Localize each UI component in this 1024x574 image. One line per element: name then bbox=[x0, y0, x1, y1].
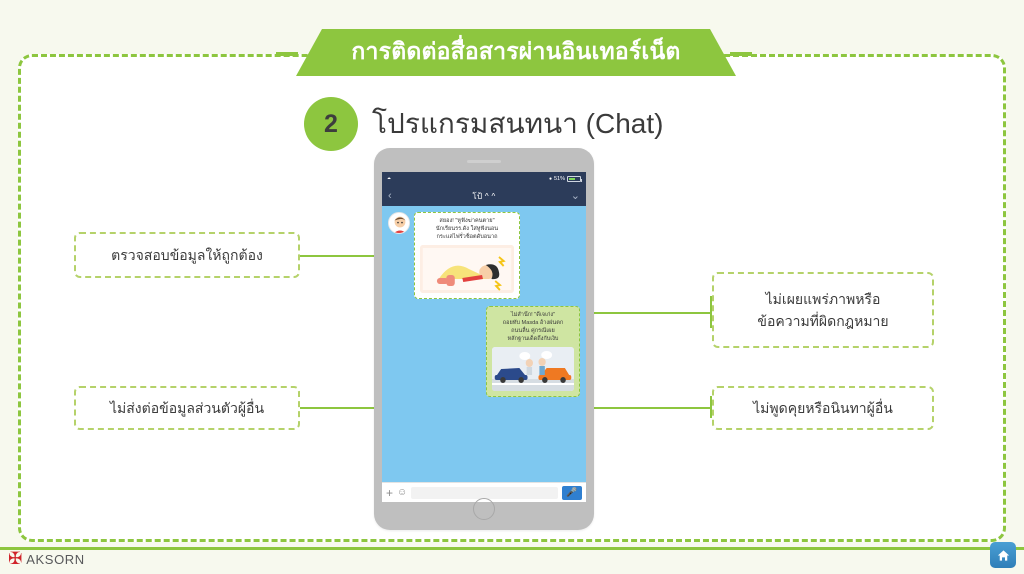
phone-home-button[interactable] bbox=[473, 498, 495, 520]
wifi-icon: ◓ bbox=[387, 176, 391, 183]
chat-header: ‹ โป้ ^ ^ ⌄ bbox=[382, 186, 586, 206]
phone-mockup: ◓ ● 51% ‹ โป้ ^ ^ ⌄ bbox=[374, 148, 594, 530]
header-banner: การติดต่อสื่อสารผ่านอินเทอร์เน็ต bbox=[296, 29, 736, 76]
connector-right-bottom bbox=[592, 407, 712, 409]
callout-no-gossip-text: ไม่พูดคุยหรือนินทาผู้อื่น bbox=[753, 397, 893, 419]
message-line: หลักฐานเด็ดถึงกับเงิบ bbox=[492, 335, 574, 343]
message-image-headphones[interactable] bbox=[420, 245, 514, 293]
plus-icon[interactable]: + bbox=[386, 487, 393, 499]
page-subtitle: โปรแกรมสนทนา (Chat) bbox=[372, 104, 663, 144]
message-line: ถนนลื่น คู่กรณีเผย bbox=[492, 327, 574, 335]
battery-icon bbox=[567, 176, 581, 182]
callout-no-illegal-content-line1: ไม่เผยแพร่ภาพหรือ bbox=[766, 288, 881, 310]
banner-title: การติดต่อสื่อสารผ่านอินเทอร์เน็ต bbox=[351, 40, 680, 65]
message-bubble-incoming[interactable]: สยอง! "หูฟังฆ่าคนตาย" นักเรียนรร.ดัง ใส่… bbox=[414, 212, 520, 299]
banner-stub-right bbox=[730, 52, 752, 56]
aksorn-mark-icon: ✠ bbox=[8, 551, 22, 568]
message-line: สยอง! "หูฟังฆ่าคนตาย" bbox=[420, 217, 514, 225]
chat-body[interactable]: สยอง! "หูฟังฆ่าคนตาย" นักเรียนรร.ดัง ใส่… bbox=[382, 206, 586, 468]
callout-no-illegal-content-line2: ข้อความที่ผิดกฎหมาย bbox=[757, 310, 888, 332]
banner-stub-left bbox=[276, 52, 298, 56]
home-button[interactable] bbox=[990, 542, 1016, 568]
slide-root: การติดต่อสื่อสารผ่านอินเทอร์เน็ต 2 โปรแก… bbox=[0, 0, 1024, 574]
battery-percent: 51% bbox=[554, 176, 565, 182]
microphone-icon[interactable]: 🎤 bbox=[562, 486, 582, 500]
connector-right-top bbox=[590, 312, 712, 314]
callout-verify-information: ตรวจสอบข้อมูลให้ถูกต้อง bbox=[74, 232, 300, 278]
status-bar: ◓ ● 51% bbox=[382, 172, 586, 186]
message-bubble-outgoing[interactable]: ไม่สำนึก! "ดีเจเก่ง" ถอยทับ Masda อ้างฝน… bbox=[486, 306, 580, 397]
brand-logo: ✠ AKSORN bbox=[8, 551, 85, 568]
message-line: กระแสไฟรั่วช็อตดับอนาถ bbox=[420, 233, 514, 241]
phone-speaker bbox=[467, 160, 501, 163]
message-line: นักเรียนรร.ดัง ใส่หูฟังนอน bbox=[420, 225, 514, 233]
callout-no-sharing-personal-data: ไม่ส่งต่อข้อมูลส่วนตัวผู้อื่น bbox=[74, 386, 300, 430]
callout-verify-information-text: ตรวจสอบข้อมูลให้ถูกต้อง bbox=[111, 244, 263, 266]
section-number: 2 bbox=[324, 110, 338, 139]
footer-divider bbox=[0, 547, 1024, 550]
brand-name: AKSORN bbox=[26, 552, 85, 567]
callout-no-gossip: ไม่พูดคุยหรือนินทาผู้อื่น bbox=[712, 386, 934, 430]
smiley-icon[interactable]: ☺ bbox=[397, 488, 407, 498]
bluetooth-icon: ● bbox=[549, 176, 552, 182]
avatar[interactable] bbox=[388, 212, 410, 234]
chat-text-input[interactable] bbox=[411, 487, 558, 499]
callout-no-illegal-content: ไม่เผยแพร่ภาพหรือ ข้อความที่ผิดกฎหมาย bbox=[712, 272, 934, 348]
message-line: ถอยทับ Masda อ้างฝนตก bbox=[492, 319, 574, 327]
message-image-car-collision[interactable] bbox=[492, 347, 574, 391]
home-icon bbox=[996, 548, 1011, 563]
phone-screen: ◓ ● 51% ‹ โป้ ^ ^ ⌄ bbox=[382, 172, 586, 482]
message-outgoing: ไม่สำนึก! "ดีเจเก่ง" ถอยทับ Masda อ้างฝน… bbox=[388, 306, 580, 397]
section-number-badge: 2 bbox=[304, 97, 358, 151]
message-line: ไม่สำนึก! "ดีเจเก่ง" bbox=[492, 311, 574, 319]
chevron-down-icon[interactable]: ⌄ bbox=[571, 191, 580, 202]
callout-no-sharing-personal-data-text: ไม่ส่งต่อข้อมูลส่วนตัวผู้อื่น bbox=[110, 397, 264, 419]
chat-title: โป้ ^ ^ bbox=[382, 190, 586, 203]
message-incoming: สยอง! "หูฟังฆ่าคนตาย" นักเรียนรร.ดัง ใส่… bbox=[388, 212, 580, 299]
